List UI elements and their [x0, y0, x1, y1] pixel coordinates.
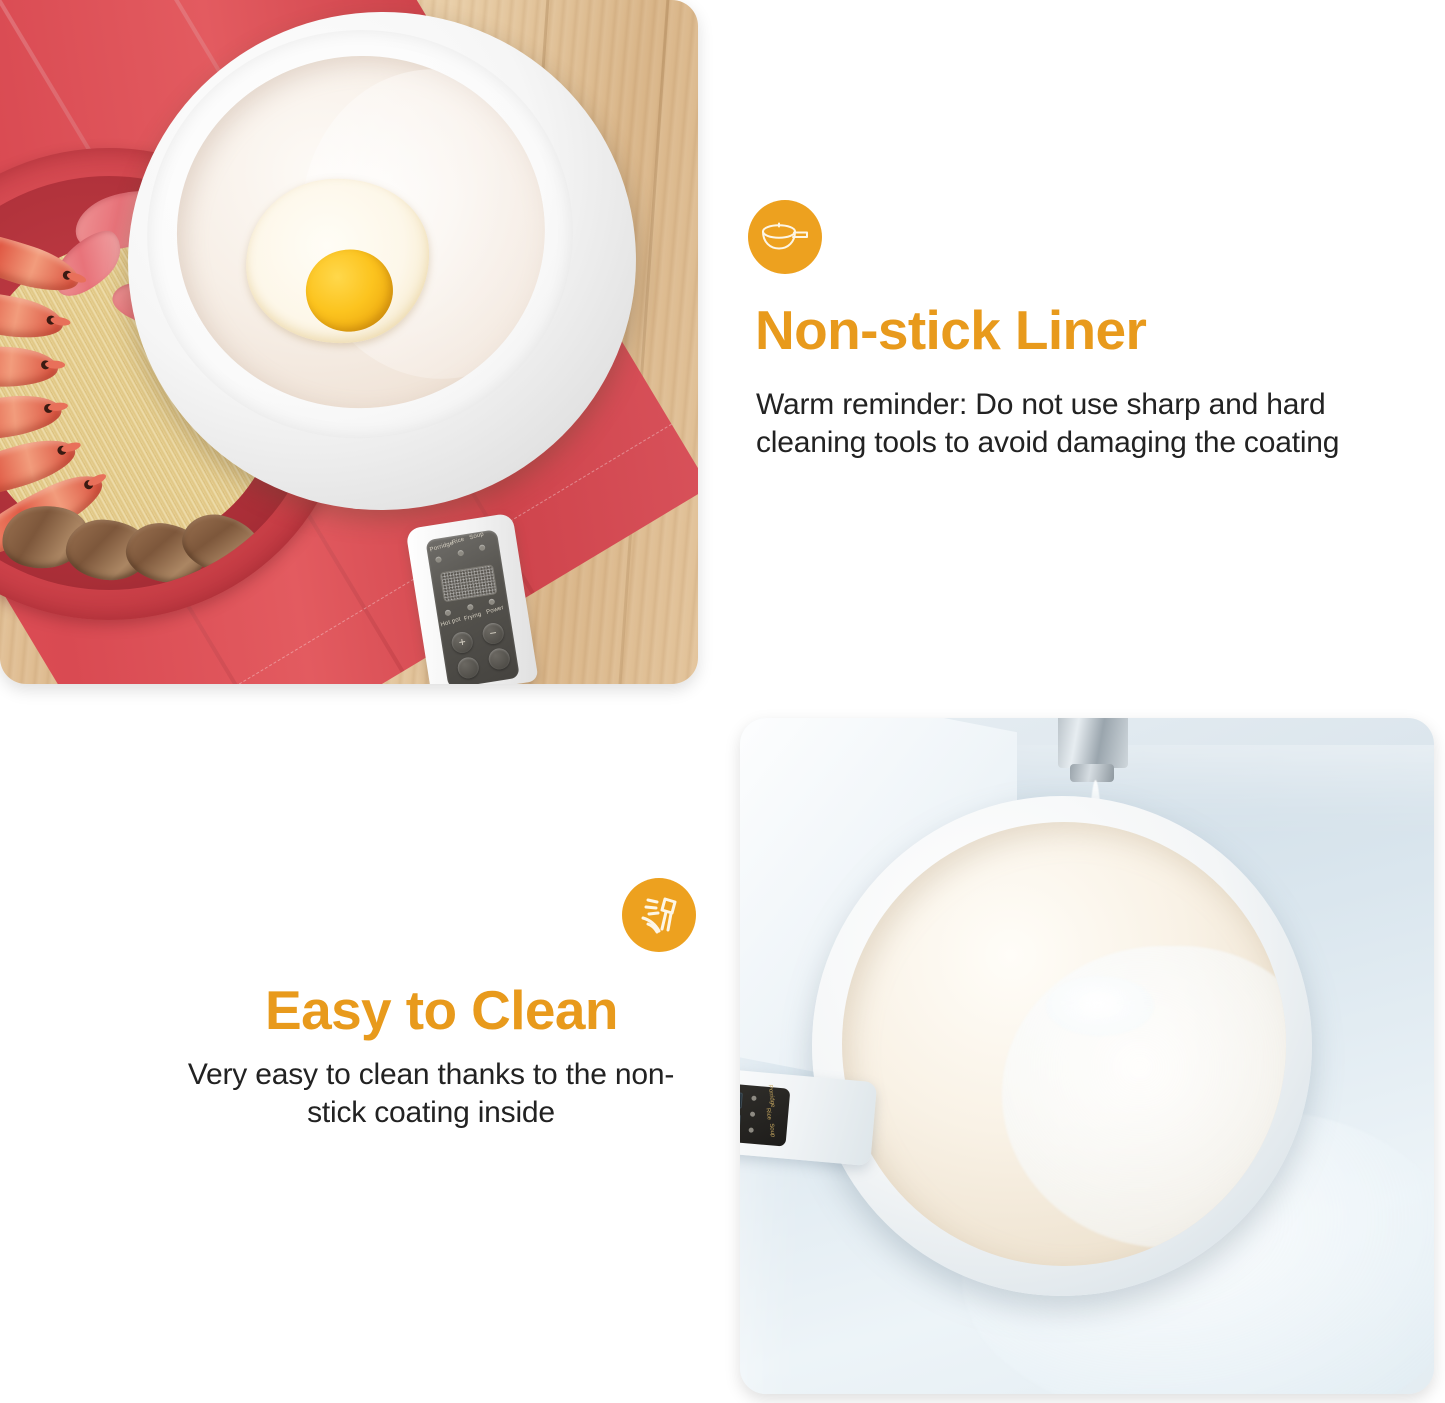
keep-warm-button[interactable] [487, 647, 511, 671]
cooker-control-panel: Porridge Rice Soup Hot pot Frying Power … [425, 529, 520, 684]
feature-heading-non-stick-liner: Non-stick Liner [755, 300, 1146, 360]
non-stick-liner-surface [159, 38, 562, 427]
panel-indicator-dot [457, 550, 464, 557]
panel-indicator-dot [467, 604, 474, 611]
panel-indicator-dot [751, 1096, 756, 1101]
feature-body-non-stick-liner: Warm reminder: Do not use sharp and hard… [756, 386, 1356, 462]
water-splash [1046, 976, 1154, 1036]
display-segment [740, 1091, 743, 1109]
feature-heading-easy-to-clean: Easy to Clean [265, 980, 618, 1040]
panel-label-rice: Rice [451, 537, 465, 546]
panel-indicator-dot [748, 1127, 753, 1132]
electric-pot [812, 796, 1312, 1296]
decrease-button[interactable]: − [481, 622, 505, 646]
photo-sink-scene: Porridge Rice Soup [740, 718, 1434, 1394]
photo-food: Porridge Rice Soup Hot pot Frying Power … [0, 0, 698, 684]
cleaning-brush-icon [622, 878, 696, 952]
pot-handle: Porridge Rice Soup [740, 1066, 877, 1166]
panel-label-soup: Soup [469, 531, 485, 541]
panel-indicator-dot [488, 598, 495, 605]
pot-non-stick-interior [842, 822, 1286, 1266]
egg-yolk [302, 246, 396, 336]
photo-sink: Porridge Rice Soup [740, 718, 1434, 1394]
panel-label-soup: Soup [768, 1123, 776, 1138]
panel-indicator-dot [435, 556, 442, 563]
faucet-spout [1070, 764, 1114, 782]
frying-pan-icon [748, 200, 822, 274]
panel-indicator-dot [445, 609, 452, 616]
display-segment [740, 1113, 741, 1131]
panel-label-hotpot: Hot pot [440, 617, 462, 629]
cooker-display-screen [440, 564, 498, 602]
faucet-neck [1058, 718, 1128, 768]
panel-label-frying: Frying [463, 612, 482, 623]
pot-control-panel: Porridge Rice Soup [740, 1081, 790, 1147]
panel-label-rice: Rice [764, 1108, 771, 1121]
panel-label-power: Power [486, 605, 505, 616]
start-button[interactable] [456, 656, 480, 680]
panel-indicator-dot [479, 544, 486, 551]
panel-label-porridge: Porridge [767, 1085, 776, 1108]
panel-indicator-dot [750, 1111, 755, 1116]
feature-body-easy-to-clean: Very easy to clean thanks to the non-sti… [170, 1056, 692, 1132]
panel-label-porridge: Porridge [429, 541, 454, 554]
photo-food-scene: Porridge Rice Soup Hot pot Frying Power … [0, 0, 698, 684]
increase-button[interactable]: + [450, 630, 474, 654]
